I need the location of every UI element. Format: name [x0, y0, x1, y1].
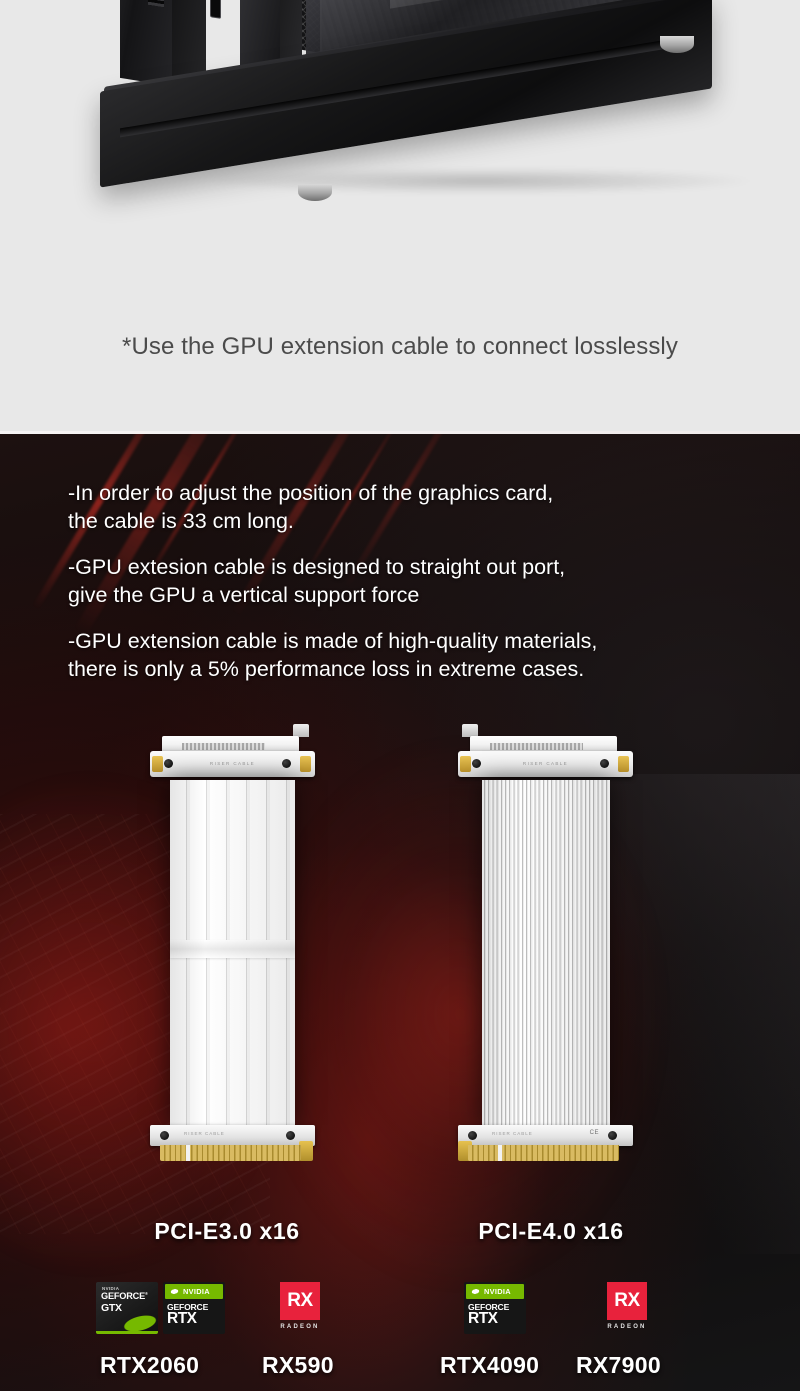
- screw-hole-left: [160, 1131, 169, 1140]
- badge-geforce-gtx: NVIDIA GEFORCE® GTX: [96, 1282, 158, 1334]
- rx-badge-art: RX RADEON: [599, 1282, 655, 1334]
- rtx-badge-art: NVIDIA GEFORCE RTX: [464, 1282, 526, 1334]
- feature-bullet-list: -In order to adjust the position of the …: [68, 479, 778, 700]
- spec-label-row: PCI-E3.0 x16 PCI-E4.0 x16: [0, 1218, 800, 1258]
- gold-contact-right: [618, 756, 629, 772]
- badge-geforce-rtx-right: NVIDIA GEFORCE RTX: [464, 1282, 526, 1334]
- ribbon-cable-body-wide: [170, 780, 295, 1125]
- rx-wordmark: RX: [287, 1290, 312, 1312]
- pcie-connector-plate: RISER CABLE: [150, 1125, 315, 1146]
- cable-top-connector: RISER CABLE: [150, 734, 315, 780]
- pcie-gold-fingers: [160, 1145, 301, 1161]
- radeon-wordmark: RADEON: [599, 1324, 655, 1330]
- io-port-slot: [210, 0, 221, 19]
- features-section: -In order to adjust the position of the …: [0, 434, 800, 1391]
- badge-accent-bar: [96, 1331, 158, 1334]
- radeon-wordmark: RADEON: [272, 1324, 328, 1330]
- connector-plate: RISER CABLE: [150, 751, 315, 777]
- spec-label-pcie3: PCI-E3.0 x16: [142, 1218, 312, 1245]
- nvidia-wordmark: NVIDIA: [183, 1287, 210, 1296]
- ribbon-seam: [170, 940, 295, 958]
- screw-hole-right: [286, 1131, 295, 1140]
- model-name: RTX4090: [440, 1352, 539, 1379]
- screw-hole-right: [282, 759, 291, 768]
- pcie-key-notch: [498, 1145, 502, 1161]
- riser-cable-pcie4: RISER CABLE RISER CABLE CE: [458, 734, 633, 1169]
- connector-brand-text: RISER CABLE: [492, 1131, 533, 1136]
- nvidia-wordmark: NVIDIA: [484, 1287, 511, 1296]
- ribbon-cable-body-fine: [482, 780, 610, 1125]
- connector-brand-text: RISER CABLE: [184, 1131, 225, 1136]
- feature-bullet: -In order to adjust the position of the …: [68, 479, 778, 536]
- rtx-wordmark: RTX: [468, 1311, 498, 1327]
- nvidia-green-bar: NVIDIA: [466, 1284, 524, 1299]
- gold-contact-left: [460, 756, 471, 772]
- model-name: RX590: [262, 1352, 334, 1379]
- rx-red-square: RX: [280, 1282, 320, 1320]
- case-drop-shadow: [210, 168, 750, 194]
- screw-hole-left: [472, 759, 481, 768]
- model-name-row: RTX2060 RX590 RTX4090 RX7900: [0, 1352, 800, 1386]
- connector-slot-teeth: [182, 743, 265, 750]
- compatibility-badge-row: NVIDIA GEFORCE® GTX NVIDIA GEFORCE RTX: [0, 1282, 800, 1338]
- screw-hole-left: [164, 759, 173, 768]
- rx-wordmark: RX: [614, 1290, 639, 1312]
- top-photo-section: *Use the GPU extension cable to connect …: [0, 0, 800, 434]
- cable-top-connector: RISER CABLE: [458, 734, 633, 780]
- model-name: RX7900: [576, 1352, 661, 1379]
- product-detail-page: *Use the GPU extension cable to connect …: [0, 0, 800, 1391]
- nvidia-eye-icon: [167, 1286, 181, 1297]
- case-foot-left: [298, 184, 332, 201]
- cable-comparison: RISER CABLE RISER CABLE: [0, 734, 800, 1174]
- connector-brand-text: RISER CABLE: [210, 761, 255, 766]
- rtx-badge-art: NVIDIA GEFORCE RTX: [163, 1282, 225, 1334]
- rx-badge-art: RX RADEON: [272, 1282, 328, 1334]
- geforce-wordmark: GEFORCE®: [101, 1291, 148, 1301]
- connector-slot-teeth: [490, 743, 583, 750]
- trademark-symbol: ®: [145, 1291, 148, 1296]
- connector-plate: RISER CABLE: [458, 751, 633, 777]
- gtx-badge-art: NVIDIA GEFORCE® GTX: [96, 1282, 158, 1334]
- pcie-gold-fingers: [468, 1145, 619, 1161]
- ce-mark: CE: [590, 1130, 599, 1136]
- badge-geforce-rtx-left: NVIDIA GEFORCE RTX: [163, 1282, 225, 1334]
- top-caption: *Use the GPU extension cable to connect …: [0, 333, 800, 361]
- case-rear-column: [120, 0, 172, 86]
- screw-hole-left: [468, 1131, 477, 1140]
- badge-radeon-rx-left: RX RADEON: [272, 1282, 328, 1334]
- model-name: RTX2060: [100, 1352, 199, 1379]
- gold-contact-right: [300, 756, 311, 772]
- cable-bottom-connector: RISER CABLE CE: [458, 1125, 633, 1169]
- rx-red-square: RX: [607, 1282, 647, 1320]
- rtx-wordmark: RTX: [167, 1311, 197, 1327]
- screw-hole-right: [600, 759, 609, 768]
- nvidia-eye-icon: [468, 1286, 482, 1297]
- gold-retention-tab: [299, 1141, 313, 1161]
- feature-bullet: -GPU extesion cable is designed to strai…: [68, 553, 778, 610]
- ribbon-shading: [482, 780, 610, 1125]
- pc-case-photo: [90, 0, 730, 220]
- badge-radeon-rx-right: RX RADEON: [599, 1282, 655, 1334]
- nvidia-green-bar: NVIDIA: [165, 1284, 223, 1299]
- pcie-key-notch: [186, 1145, 190, 1161]
- feature-bullet: -GPU extension cable is made of high-qua…: [68, 627, 778, 684]
- connector-brand-text: RISER CABLE: [523, 761, 568, 766]
- cable-bottom-connector: RISER CABLE: [150, 1125, 315, 1169]
- pcie-connector-plate: RISER CABLE CE: [458, 1125, 633, 1146]
- spec-label-pcie4: PCI-E4.0 x16: [466, 1218, 636, 1245]
- riser-cable-pcie3: RISER CABLE RISER CABLE: [150, 734, 315, 1169]
- screw-hole-right: [608, 1131, 617, 1140]
- gold-contact-left: [152, 756, 163, 772]
